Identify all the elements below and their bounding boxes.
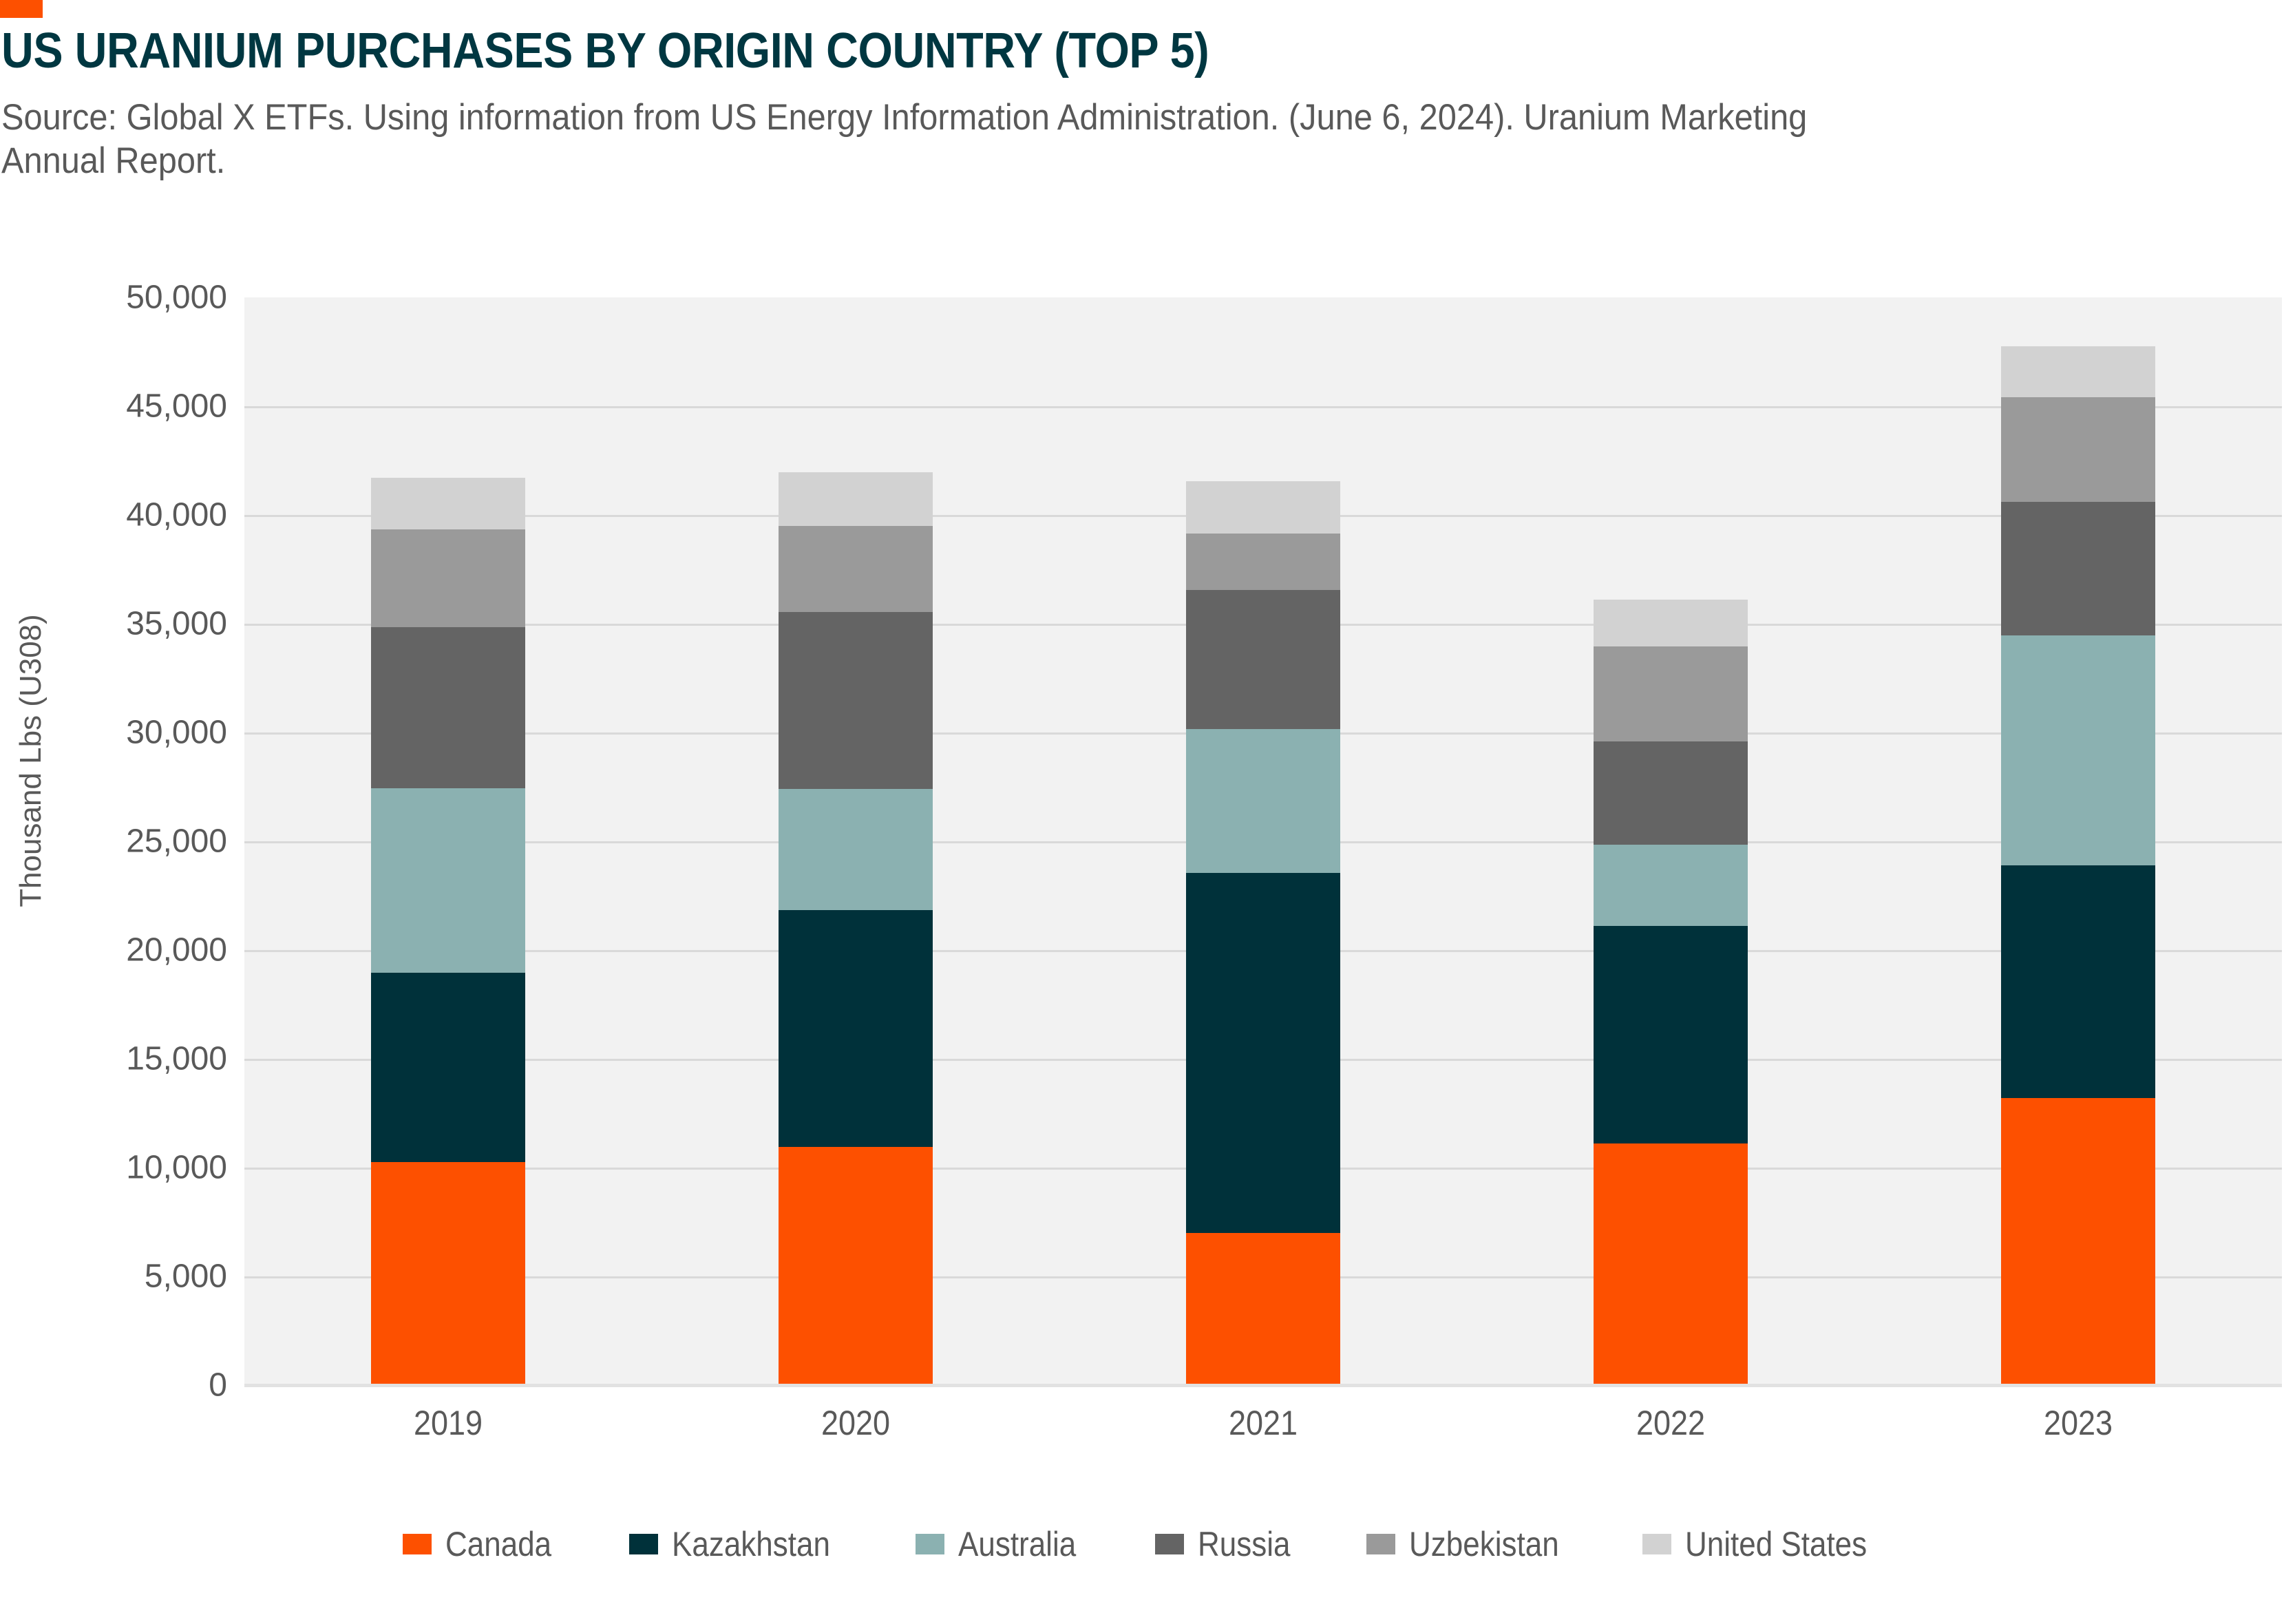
- bar-stack[interactable]: [1186, 481, 1340, 1385]
- legend-swatch-icon: [1642, 1534, 1671, 1554]
- legend-item-australia[interactable]: Australia: [916, 1524, 1092, 1564]
- y-tick-label: 20,000: [21, 931, 227, 969]
- bar-stack[interactable]: [1594, 600, 1748, 1385]
- bar-segment-russia[interactable]: [371, 627, 525, 788]
- bar-segment-uzbekistan[interactable]: [1594, 646, 1748, 741]
- legend-swatch-icon: [1366, 1534, 1395, 1554]
- legend-label: United States: [1685, 1524, 1867, 1564]
- y-tick-label: 30,000: [21, 714, 227, 752]
- bar-segment-russia[interactable]: [1186, 590, 1340, 729]
- legend-label: Canada: [445, 1524, 551, 1564]
- y-tick-label: 35,000: [21, 605, 227, 643]
- bar-segment-canada[interactable]: [2001, 1098, 2155, 1385]
- legend-label: Uzbekistan: [1409, 1524, 1559, 1564]
- bar-stack[interactable]: [779, 472, 933, 1385]
- x-tick-label: 2021: [1170, 1403, 1356, 1443]
- bar-segment-kazakhstan[interactable]: [1186, 873, 1340, 1233]
- legend-item-russia[interactable]: Russia: [1155, 1524, 1303, 1564]
- bar-segment-australia[interactable]: [779, 789, 933, 909]
- bar-segment-russia[interactable]: [1594, 741, 1748, 845]
- chart-page: US URANIUM PURCHASES BY ORIGIN COUNTRY (…: [0, 0, 2295, 1624]
- bar-segment-united-states[interactable]: [1594, 600, 1748, 646]
- legend-label: Australia: [958, 1524, 1076, 1564]
- y-tick-label: 45,000: [21, 388, 227, 425]
- legend-label: Russia: [1198, 1524, 1291, 1564]
- bar-stack[interactable]: [2001, 346, 2155, 1385]
- legend-swatch-icon: [916, 1534, 944, 1554]
- bar-segment-kazakhstan[interactable]: [2001, 865, 2155, 1098]
- legend-item-kazakhstan[interactable]: Kazakhstan: [629, 1524, 852, 1564]
- legend-label: Kazakhstan: [672, 1524, 830, 1564]
- x-tick-label: 2022: [1578, 1403, 1764, 1443]
- y-tick-label: 5,000: [21, 1258, 227, 1296]
- bar-segment-uzbekistan[interactable]: [1186, 534, 1340, 590]
- brand-accent-mark: [0, 0, 43, 18]
- x-tick-label: 2020: [763, 1403, 949, 1443]
- bar-segment-canada[interactable]: [779, 1147, 933, 1385]
- x-axis-line: [244, 1384, 2282, 1387]
- bar-segment-united-states[interactable]: [371, 478, 525, 529]
- bar-segment-united-states[interactable]: [1186, 481, 1340, 534]
- bar-segment-united-states[interactable]: [2001, 346, 2155, 397]
- x-tick-label: 2023: [1985, 1403, 2171, 1443]
- y-axis-tick-labels: 05,00010,00015,00020,00025,00030,00035,0…: [0, 297, 227, 1385]
- y-tick-label: 0: [21, 1367, 227, 1404]
- y-tick-label: 10,000: [21, 1149, 227, 1187]
- bar-segment-kazakhstan[interactable]: [779, 910, 933, 1147]
- legend-swatch-icon: [1155, 1534, 1184, 1554]
- bar-segment-uzbekistan[interactable]: [371, 529, 525, 627]
- bar-segment-australia[interactable]: [371, 788, 525, 973]
- bar-segment-canada[interactable]: [371, 1162, 525, 1385]
- source-note: Source: Global X ETFs. Using information…: [1, 96, 1901, 182]
- bar-segment-uzbekistan[interactable]: [2001, 397, 2155, 502]
- legend-item-united-states[interactable]: United States: [1642, 1524, 1892, 1564]
- y-tick-label: 15,000: [21, 1040, 227, 1078]
- legend-item-uzbekistan[interactable]: Uzbekistan: [1366, 1524, 1579, 1564]
- bar-segment-russia[interactable]: [779, 612, 933, 790]
- legend-swatch-icon: [403, 1534, 432, 1554]
- bar-segment-kazakhstan[interactable]: [1594, 926, 1748, 1143]
- bar-segment-canada[interactable]: [1594, 1143, 1748, 1385]
- bar-segment-canada[interactable]: [1186, 1233, 1340, 1385]
- y-tick-label: 50,000: [21, 279, 227, 317]
- bar-segment-russia[interactable]: [2001, 502, 2155, 635]
- bar-segment-australia[interactable]: [1594, 845, 1748, 927]
- gridline: [244, 406, 2282, 408]
- bar-segment-australia[interactable]: [2001, 635, 2155, 865]
- bar-segment-united-states[interactable]: [779, 472, 933, 525]
- legend-item-canada[interactable]: Canada: [403, 1524, 566, 1564]
- plot-area: [244, 297, 2282, 1385]
- chart-legend: CanadaKazakhstanAustraliaRussiaUzbekista…: [0, 1513, 2295, 1575]
- bar-stack[interactable]: [371, 478, 525, 1385]
- bar-segment-australia[interactable]: [1186, 729, 1340, 873]
- y-tick-label: 40,000: [21, 496, 227, 534]
- bar-segment-kazakhstan[interactable]: [371, 973, 525, 1162]
- bar-segment-uzbekistan[interactable]: [779, 526, 933, 612]
- legend-swatch-icon: [629, 1534, 658, 1554]
- y-tick-label: 25,000: [21, 823, 227, 861]
- x-tick-label: 2019: [355, 1403, 541, 1443]
- page-title: US URANIUM PURCHASES BY ORIGIN COUNTRY (…: [1, 26, 1984, 76]
